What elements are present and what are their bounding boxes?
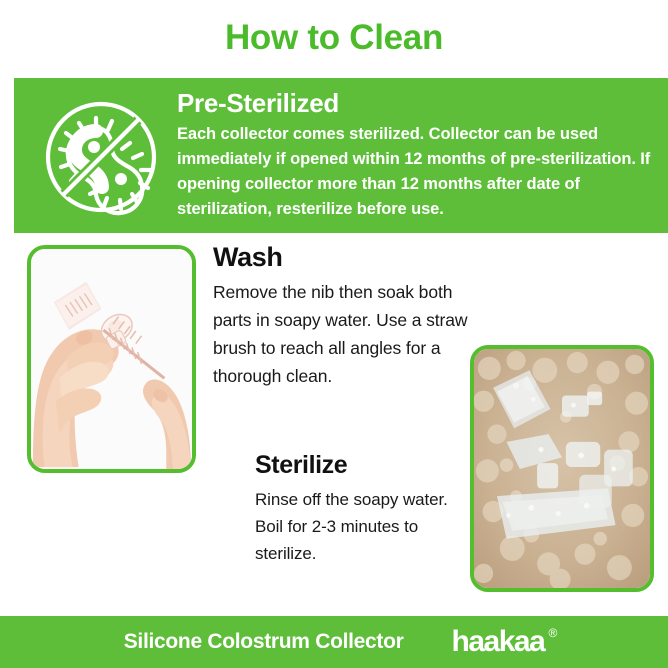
section-wash: Wash Remove the nib then soak both parts… <box>213 240 473 390</box>
section-body-sterilize: Rinse off the soapy water. Boil for 2-3 … <box>255 486 470 567</box>
haakaa-logo: haakaa ® <box>452 627 545 657</box>
registered-trademark-icon: ® <box>548 618 557 648</box>
section-pre-sterilized: Pre-Sterilized Each collector comes ster… <box>14 78 668 233</box>
footer-product-name: Silicone Colostrum Collector <box>124 630 404 654</box>
section-heading-pre-sterilized: Pre-Sterilized <box>177 86 657 120</box>
section-sterilize: Sterilize Rinse off the soapy water. Boi… <box>255 448 470 567</box>
footer-banner: Silicone Colostrum Collector haakaa ® <box>0 616 668 668</box>
section-heading-sterilize: Sterilize <box>255 448 470 482</box>
haakaa-logo-text: haakaa <box>452 625 545 658</box>
hand-holding-straw-brush-photo <box>27 245 196 473</box>
section-heading-wash: Wash <box>213 240 473 274</box>
section-body-pre-sterilized: Each collector comes sterilized. Collect… <box>177 122 657 222</box>
section-body-wash: Remove the nib then soak both parts in s… <box>213 278 473 390</box>
boiling-collectors-in-pot-photo <box>470 345 654 592</box>
page-title: How to Clean <box>0 16 668 60</box>
no-bacteria-icon <box>36 92 166 222</box>
